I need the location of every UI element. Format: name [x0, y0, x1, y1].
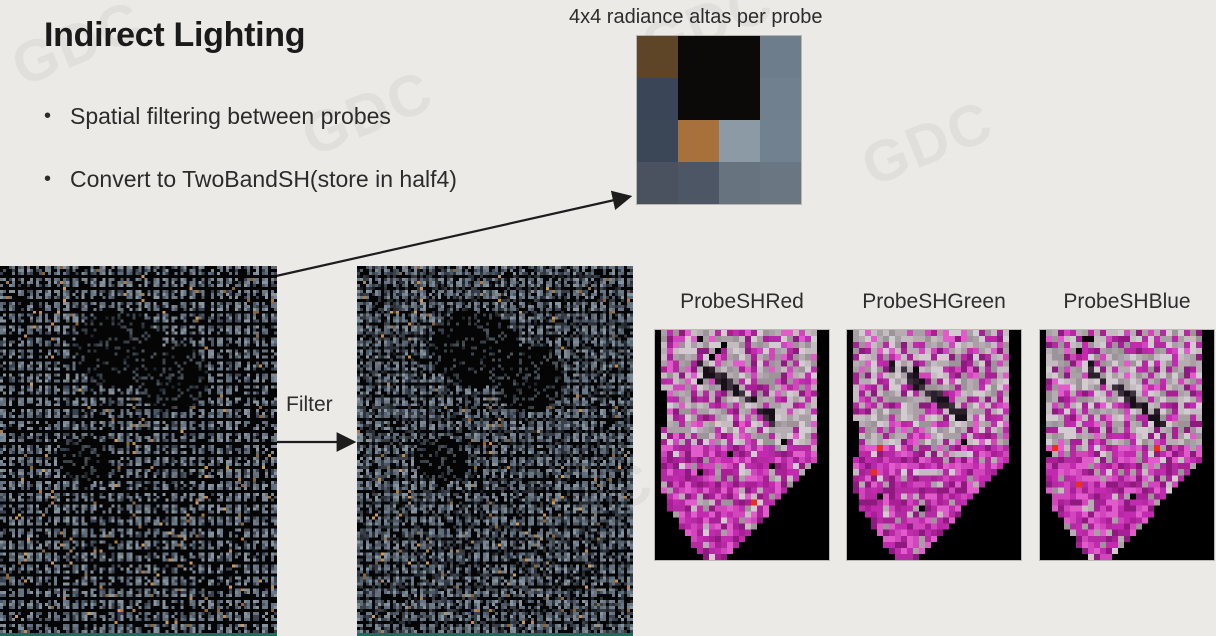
atlas-cell-0 [637, 36, 678, 78]
atlas-caption: 4x4 radiance altas per probe [569, 6, 823, 29]
atlas-cell-12 [637, 162, 678, 204]
atlas-cell-2 [719, 36, 760, 78]
watermark-text: GDC [852, 87, 1002, 200]
filter-step-label: Filter [286, 393, 333, 417]
atlas-cell-4 [637, 78, 678, 120]
atlas-cell-14 [719, 162, 760, 204]
atlas-cell-5 [678, 78, 719, 120]
atlas-cell-9 [678, 120, 719, 162]
atlas-cell-11 [760, 120, 801, 162]
bullet-marker-icon: • [44, 166, 70, 192]
atlas-cell-15 [760, 162, 801, 204]
sh-thumbnail-canvas [847, 330, 1021, 560]
bullet-text: Convert to TwoBandSH(store in half4) [70, 166, 457, 192]
radiance-atlas-grid [637, 36, 801, 204]
probe-texture-filtered [357, 266, 633, 636]
atlas-cell-13 [678, 162, 719, 204]
sh-thumb-label-blue: ProbeSHBlue [1040, 290, 1214, 314]
bullet-text: Spatial filtering between probes [70, 103, 391, 129]
atlas-cell-10 [719, 120, 760, 162]
sh-thumbnail-green [847, 330, 1021, 560]
bullet-item: • Spatial filtering between probes [44, 103, 391, 129]
bullet-marker-icon: • [44, 103, 70, 129]
sh-thumbnail-canvas [655, 330, 829, 560]
atlas-cell-1 [678, 36, 719, 78]
probe-texture-canvas [357, 266, 633, 636]
bullet-item: • Convert to TwoBandSH(store in half4) [44, 166, 457, 192]
slide-canvas: GDC GDC GDC GDC GDC GDC GDC Indirect Lig… [0, 0, 1216, 636]
atlas-cell-8 [637, 120, 678, 162]
sh-thumb-label-green: ProbeSHGreen [847, 290, 1021, 314]
sh-thumbnail-blue [1040, 330, 1214, 560]
sh-thumb-label-red: ProbeSHRed [655, 290, 829, 314]
atlas-cell-7 [760, 78, 801, 120]
slide-title: Indirect Lighting [44, 16, 305, 55]
probe-texture-unfiltered [0, 266, 277, 636]
atlas-cell-3 [760, 36, 801, 78]
sh-thumbnail-red [655, 330, 829, 560]
probe-texture-canvas [0, 266, 277, 636]
filter-right-arrow-icon [272, 430, 364, 454]
atlas-cell-6 [719, 78, 760, 120]
sh-thumbnail-canvas [1040, 330, 1214, 560]
